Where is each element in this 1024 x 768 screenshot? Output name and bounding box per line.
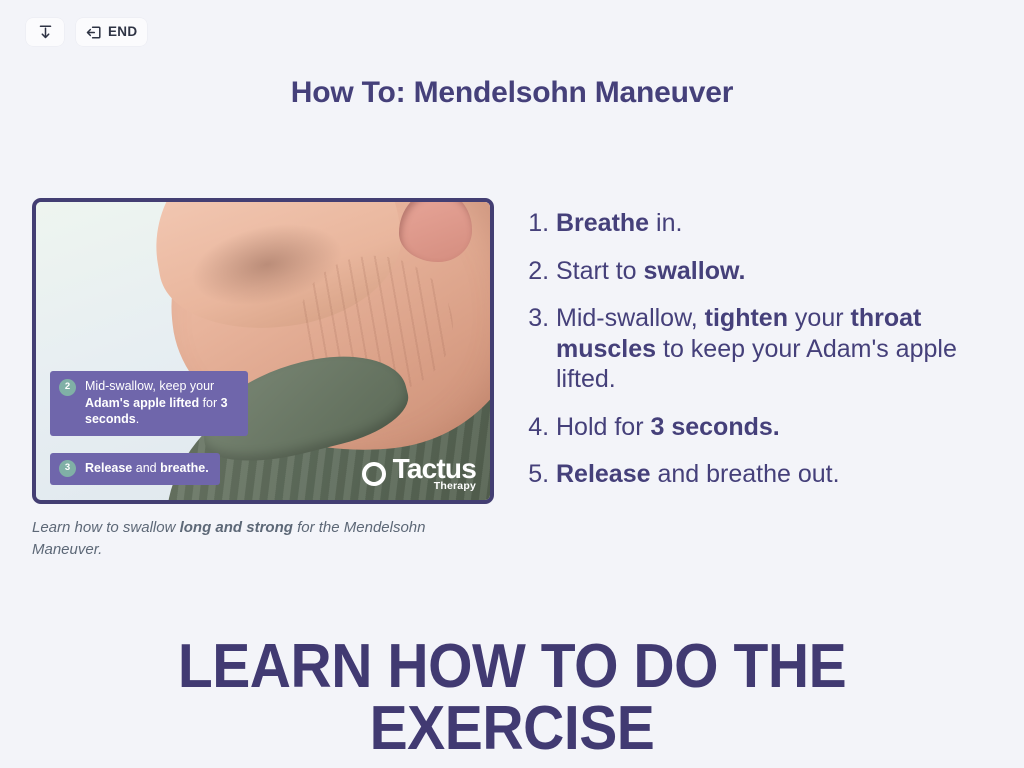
photo-callout-3: 3 Release and breathe.: [50, 453, 220, 485]
arrow-down-from-line-icon: [38, 24, 53, 40]
callout-badge: 3: [59, 460, 76, 477]
callout-text: Release and breathe.: [85, 460, 209, 477]
list-item: Release and breathe out.: [556, 459, 992, 490]
steps-list: Breathe in. Start to swallow. Mid-swallo…: [522, 208, 992, 490]
callout-text: Mid-swallow, keep your Adam's apple lift…: [85, 378, 237, 428]
list-item: Hold for 3 seconds.: [556, 412, 992, 443]
photo-callout-2: 2 Mid-swallow, keep your Adam's apple li…: [50, 371, 248, 436]
end-button[interactable]: END: [76, 18, 147, 46]
bottom-banner: LEARN HOW TO DO THE EXERCISE: [41, 636, 983, 760]
figure: 2 Mid-swallow, keep your Adam's apple li…: [32, 198, 494, 561]
steps-panel: Breathe in. Start to swallow. Mid-swallo…: [522, 198, 992, 507]
exercise-photo[interactable]: 2 Mid-swallow, keep your Adam's apple li…: [32, 198, 494, 504]
end-button-label: END: [108, 25, 137, 39]
callout-badge: 2: [59, 379, 76, 396]
list-item: Breathe in.: [556, 208, 992, 239]
top-toolbar: END: [26, 18, 147, 46]
logo-name: Tactus: [393, 453, 476, 484]
download-button[interactable]: [26, 18, 64, 46]
ring-icon: [362, 462, 386, 486]
logo-subtitle: Therapy: [393, 482, 476, 492]
list-item: Start to swallow.: [556, 256, 992, 287]
tactus-therapy-logo: Tactus Therapy: [362, 456, 476, 492]
list-item: Mid-swallow, tighten your throat muscles…: [556, 303, 992, 395]
content-area: 2 Mid-swallow, keep your Adam's apple li…: [32, 198, 992, 561]
page-title: How To: Mendelsohn Maneuver: [0, 76, 1024, 110]
exit-icon: [86, 25, 102, 40]
photo-ear: [399, 202, 472, 262]
figure-caption: Learn how to swallow long and strong for…: [32, 517, 432, 561]
